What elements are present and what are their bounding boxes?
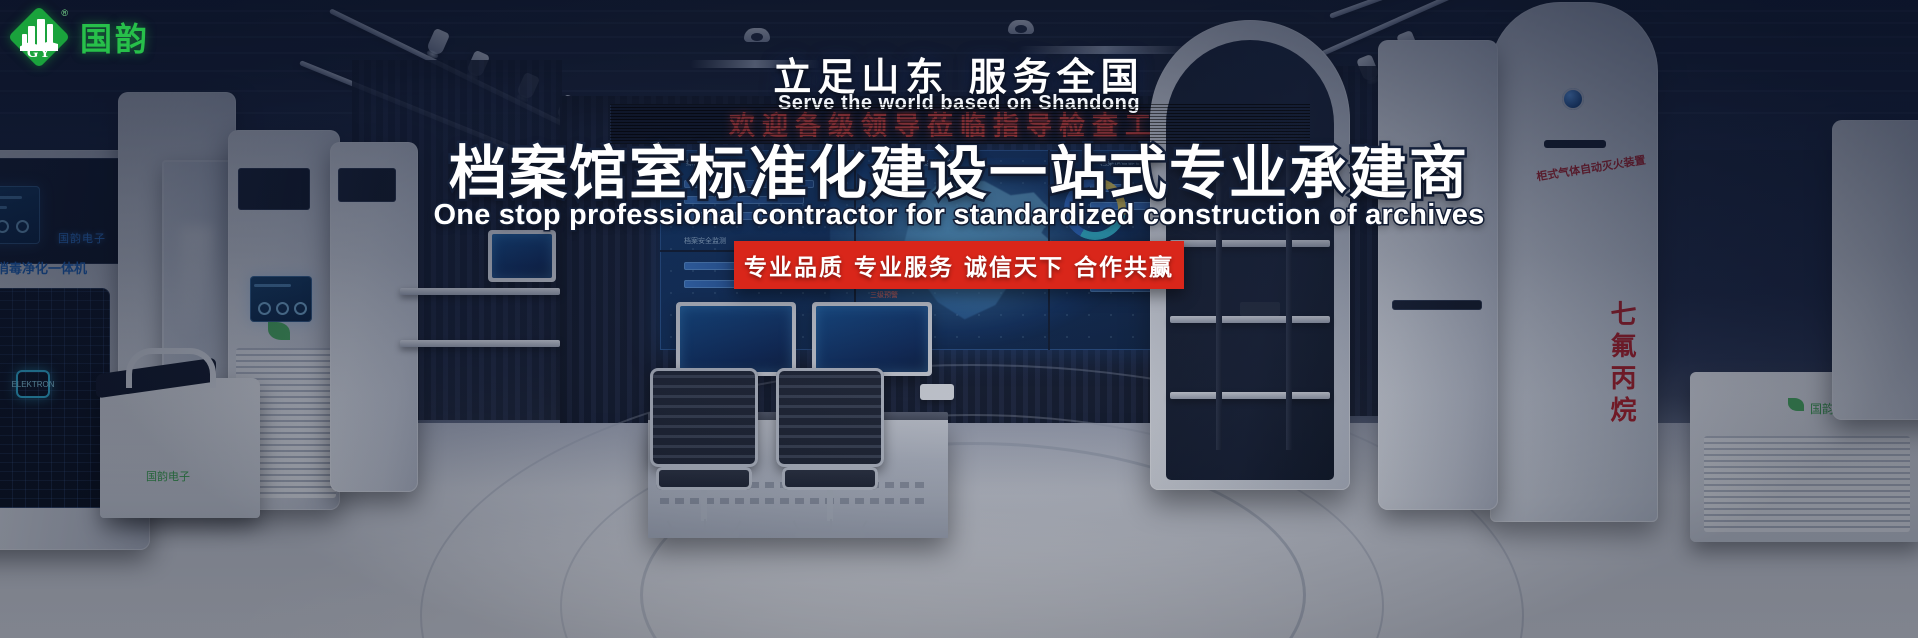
page-subtitle: One stop professional contractor for sta… [0, 199, 1918, 232]
ribbon-text: 专业品质 专业服务 诚信天下 合作共赢 [744, 248, 1174, 282]
registered-mark-icon: ® [61, 8, 68, 18]
page-title: 档案馆室标准化建设一站式专业承建商 [0, 126, 1918, 210]
hero-overlay: GY ® 国韵 立足山东 服务全国 Serve the world based … [0, 0, 1918, 638]
slogan-english: Serve the world based on Shandong [0, 92, 1918, 115]
value-proposition-ribbon: 专业品质 专业服务 诚信天下 合作共赢 [734, 241, 1184, 289]
hero-banner: 国韵电子 温湿消毒净化一体机 ELEKTRON 国韵电子 综合安全 [0, 0, 1918, 638]
